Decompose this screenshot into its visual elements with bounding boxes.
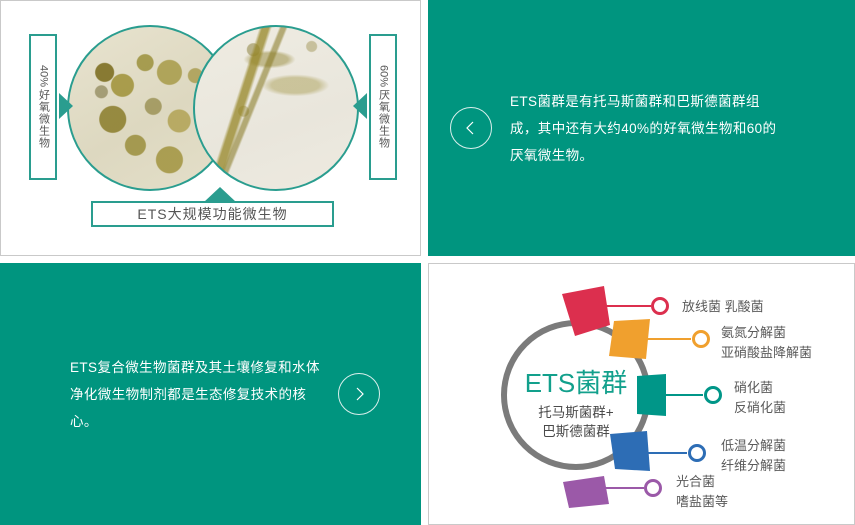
micrograph-composition: 40% 好氧微生物 60% 厌氧微生物 ETS大规模功能微生物 [1,1,420,255]
panel-grid: 40% 好氧微生物 60% 厌氧微生物 ETS大规模功能微生物 ETS菌群是有托… [0,0,855,525]
segment-label-red-1: 放线菌 乳酸菌 [682,299,764,314]
chart-segment-purple[interactable]: 光合菌 嗜盐菌等 [563,474,728,509]
chart-center-title: ETS菌群 [525,368,628,398]
chevron-left-icon[interactable] [450,107,492,149]
segment-label-orange-1: 氨氮分解菌 [721,325,786,340]
segment-label-teal-1: 硝化菌 [734,380,773,395]
micrograph-anaerobic-image [193,25,359,191]
chart-segment-blue[interactable]: 低温分解菌 纤维分解菌 [610,431,786,473]
segment-label-blue-1: 低温分解菌 [721,438,786,453]
ring-marker-teal [706,388,721,403]
aerobic-percent: 40% [38,65,49,87]
triangle-right-icon [59,93,73,119]
intro-content: ETS菌群是有托马斯菌群和巴斯德菌群组成，其中还有大约40%的好氧微生物和60的… [428,0,855,256]
ring-marker-red [653,299,668,314]
intro-text: ETS菌群是有托马斯菌群和巴斯德菌群组成，其中还有大约40%的好氧微生物和60的… [510,88,778,169]
segment-wedge-teal [637,374,666,416]
bacteria-chart-panel: ETS菌群 托马斯菌群+ 巴斯德菌群 放线菌 乳酸菌 氨氮分解菌 亚硝酸盐降解菌 [428,263,855,525]
aerobic-label: 好氧微生物 [38,89,49,149]
core-content: ETS复合微生物菌群及其土壤修复和水体净化微生物制剂都是生态修复技术的核心。 [0,263,421,525]
chevron-right-icon[interactable] [338,373,380,415]
chart-segment-teal[interactable]: 硝化菌 反硝化菌 [637,374,786,416]
segment-wedge-blue [610,431,650,471]
ring-marker-blue [690,446,705,461]
chart-center-subtitle-2: 巴斯德菌群 [542,424,610,439]
chart-center-subtitle-1: 托马斯菌群+ [538,405,613,420]
core-text: ETS复合微生物菌群及其土壤修复和水体净化微生物制剂都是生态修复技术的核心。 [70,354,320,435]
triangle-up-icon [204,187,236,202]
segment-label-teal-2: 反硝化菌 [734,400,786,415]
segment-label-purple-2: 嗜盐菌等 [676,494,728,509]
radial-chart-svg: ETS菌群 托马斯菌群+ 巴斯德菌群 放线菌 乳酸菌 氨氮分解菌 亚硝酸盐降解菌 [429,264,855,525]
segment-label-purple-1: 光合菌 [676,474,715,489]
anaerobic-percent: 60% [378,65,389,87]
segment-wedge-purple [563,476,609,508]
micrograph-panel: 40% 好氧微生物 60% 厌氧微生物 ETS大规模功能微生物 [0,0,421,256]
anaerobic-badge: 60% 厌氧微生物 [369,34,397,180]
intro-panel: ETS菌群是有托马斯菌群和巴斯德菌群组成，其中还有大约40%的好氧微生物和60的… [428,0,855,256]
aerobic-badge: 40% 好氧微生物 [29,34,57,180]
triangle-left-icon [353,93,367,119]
segment-label-orange-2: 亚硝酸盐降解菌 [721,345,812,360]
ring-marker-orange [694,332,709,347]
anaerobic-label: 厌氧微生物 [378,89,389,149]
ring-marker-purple [646,481,661,496]
chart-segment-orange[interactable]: 氨氮分解菌 亚硝酸盐降解菌 [609,319,812,360]
segment-wedge-orange [609,319,650,359]
micrograph-caption: ETS大规模功能微生物 [91,201,334,227]
segment-label-blue-2: 纤维分解菌 [721,458,786,473]
core-panel: ETS复合微生物菌群及其土壤修复和水体净化微生物制剂都是生态修复技术的核心。 [0,263,421,525]
radial-diagram: ETS菌群 托马斯菌群+ 巴斯德菌群 放线菌 乳酸菌 氨氮分解菌 亚硝酸盐降解菌 [429,264,854,524]
